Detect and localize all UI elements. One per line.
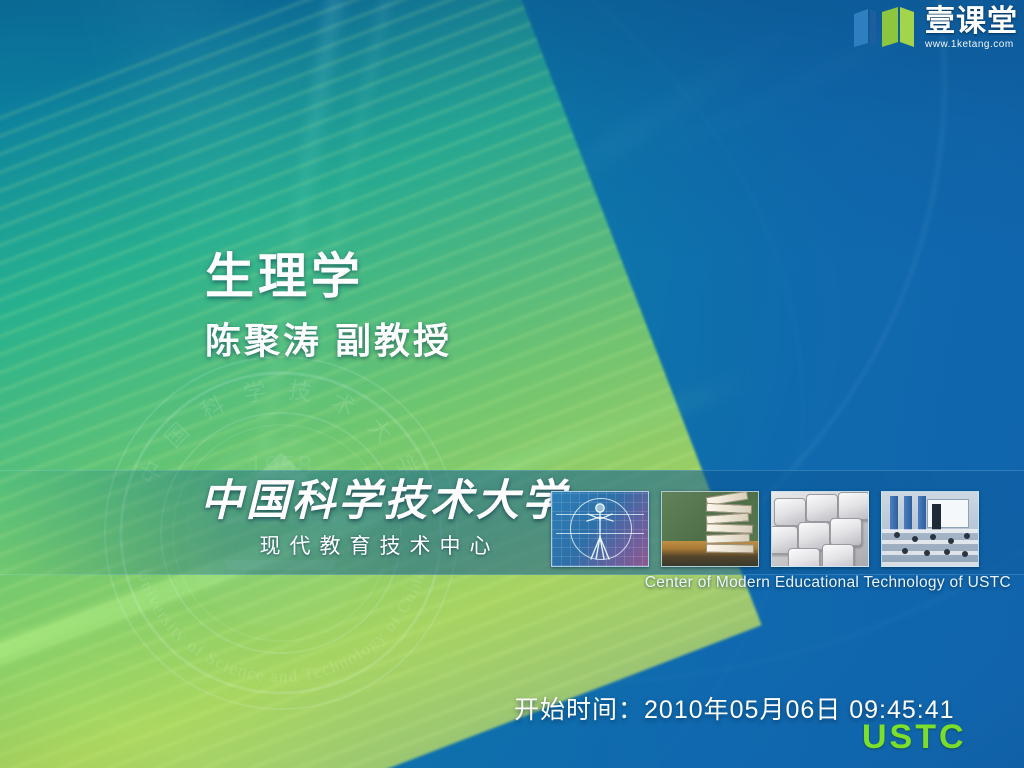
thumbnail-classroom [881, 491, 979, 567]
student-head [902, 548, 908, 554]
start-time-label: 开始时间： [514, 696, 644, 724]
course-title: 生理学 [205, 252, 452, 303]
thumbnail-vitruvian-man [551, 491, 649, 567]
thumbnail-keyboard [771, 491, 869, 567]
logo-name: 壹课堂 [925, 7, 1018, 37]
logo-url: www.1ketang.com [925, 40, 1018, 50]
student-head [930, 534, 936, 540]
keyboard-key [830, 518, 862, 546]
book-stack [706, 494, 750, 546]
student-head [964, 533, 970, 539]
podium [932, 504, 941, 530]
center-name-en: Center of Modern Educational Technology … [645, 574, 1011, 592]
presenter-name: 陈聚涛 副教授 [205, 321, 452, 361]
banner-thumbnail-strip [551, 491, 979, 567]
student-head [962, 551, 968, 557]
university-identity: 中国科学技术大学 现代教育技术中心 [200, 477, 550, 560]
student-head [944, 549, 950, 555]
background-top-shade [0, 0, 1024, 768]
university-name-cn: 中国科学技术大学 [200, 477, 550, 528]
student-head [912, 536, 918, 542]
site-logo[interactable]: 壹课堂 www.1ketang.com [852, 6, 1018, 50]
university-banner: 中国科学技术大学 现代教育技术中心 [0, 470, 1024, 575]
ustc-watermark: USTC [862, 718, 967, 757]
student-head [948, 538, 954, 544]
keyboard-key [822, 544, 854, 567]
department-name-cn: 现代教育技术中心 [200, 530, 550, 560]
window-curtain [890, 496, 898, 530]
thumbnail-books-chalkboard [661, 491, 759, 567]
student-head [924, 550, 930, 556]
keyboard-key [838, 492, 869, 520]
student-head [894, 532, 900, 538]
human-figure-icon [585, 501, 615, 563]
open-book-icon [852, 6, 918, 50]
logo-text: 壹课堂 www.1ketang.com [925, 7, 1018, 50]
window-curtain [918, 496, 926, 530]
window-curtain [904, 496, 912, 530]
keyboard-key [788, 548, 820, 567]
title-block: 生理学 陈聚涛 副教授 [205, 252, 452, 361]
presentation-slide: 1958 中 国 科 学 技 术 大 学 University of Scien… [0, 0, 1024, 768]
